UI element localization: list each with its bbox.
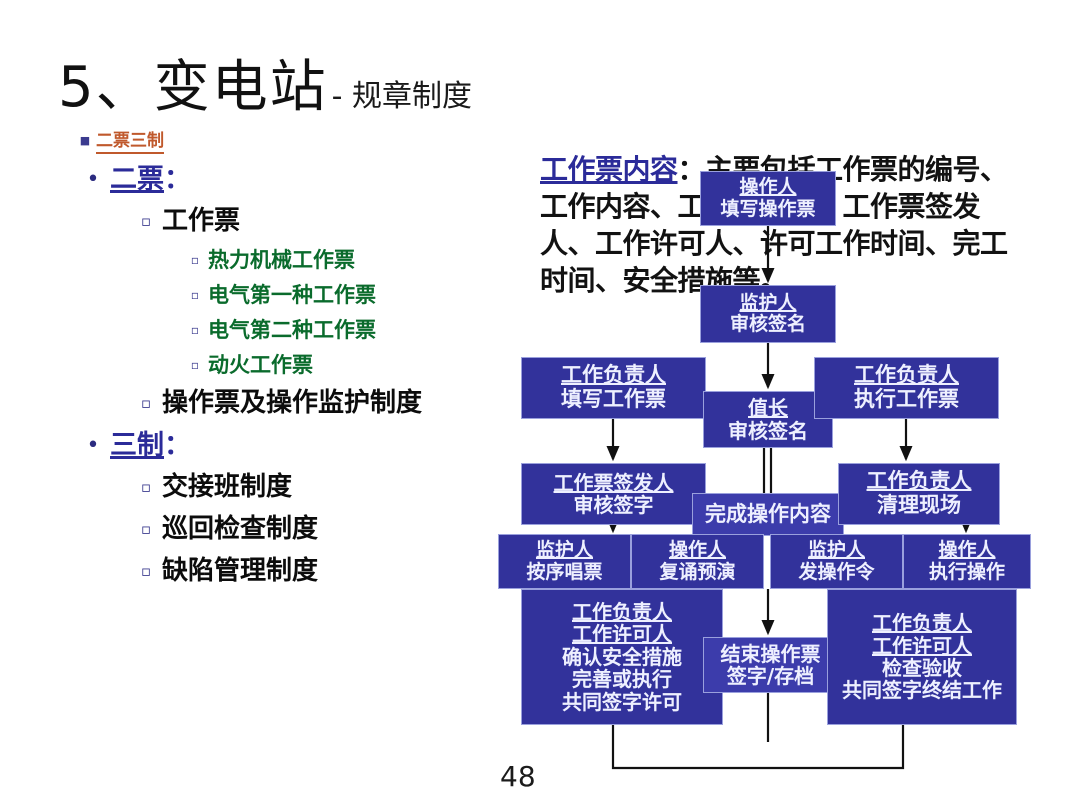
- flow-node-op-exec: 操作人执行操作: [903, 534, 1031, 589]
- bullet-marker-icon: ▫: [130, 468, 162, 506]
- outline-item-label: 交接班制度: [162, 468, 292, 506]
- flow-node-leader-fill: 工作负责人填写工作票: [521, 357, 706, 419]
- outline-item: ▫操作票及操作监护制度: [70, 384, 510, 422]
- page-title: 5、变电站- 规章制度: [58, 42, 472, 123]
- flow-node-line: 检查验收: [882, 657, 962, 679]
- flow-node-op-repeat: 操作人复诵预演: [631, 534, 764, 589]
- flow-node-line: 发操作令: [798, 562, 874, 583]
- bullet-marker-icon: ▫: [130, 510, 162, 548]
- outline-item: ▫交接班制度: [70, 468, 510, 506]
- work-ticket-content-heading: 工作票内容: [540, 153, 678, 186]
- outline-item-label: 二票：: [110, 160, 191, 200]
- work-ticket-content-paragraph: 工作票内容：主要包括工作票的编号、工作内容、工作负责人、工作票签发人、工作许可人…: [540, 152, 1030, 300]
- flow-node-line: 按序唱票: [526, 562, 602, 583]
- flow-node-line: 操作人: [669, 540, 726, 561]
- flow-node-line: 完善或执行: [572, 668, 672, 690]
- outline-item-suffix: ：: [164, 430, 191, 461]
- outline-item-text: 二票: [110, 164, 164, 195]
- bullet-marker-icon: ▫: [182, 314, 208, 346]
- outline-item-label: 动火工作票: [208, 349, 313, 381]
- flow-node-super-call: 监护人按序唱票: [498, 534, 631, 589]
- bullet-marker-icon: ▫: [130, 384, 162, 422]
- outline-item-label: 工作票: [162, 202, 240, 240]
- outline-item-label: 电气第一种工作票: [208, 279, 376, 311]
- bullet-marker-icon: •: [76, 426, 110, 466]
- flow-node-line: 审核签名: [730, 314, 806, 335]
- flow-node-line: 工作负责人: [872, 612, 972, 634]
- flow-node-line: 清理现场: [877, 494, 961, 518]
- outline-item-label: 热力机械工作票: [208, 244, 355, 276]
- flow-node-issuer-sign: 工作票签发人审核签字: [521, 463, 706, 525]
- flow-node-permit-confirm: 工作负责人工作许可人确认安全措施完善或执行共同签字许可: [521, 589, 723, 725]
- flow-node-line: 结束操作票: [721, 643, 821, 665]
- outline-item: ▫热力机械工作票: [70, 244, 510, 276]
- flow-node-leader-clean: 工作负责人清理现场: [838, 463, 1000, 525]
- bullet-marker-icon: ▫: [182, 244, 208, 276]
- outline-item-text: 三制: [110, 430, 164, 461]
- flow-node-line: 工作负责人: [867, 470, 972, 494]
- bullet-marker-icon: ■: [74, 130, 96, 152]
- flow-node-line: 工作票签发人: [554, 472, 674, 494]
- flow-node-line: 工作许可人: [872, 635, 972, 657]
- outline-item: ▫工作票: [70, 202, 510, 240]
- flow-node-check-accept: 工作负责人工作许可人检查验收共同签字终结工作: [827, 589, 1017, 725]
- outline-item-label: 操作票及操作监护制度: [162, 384, 422, 422]
- outline-item: ▫电气第二种工作票: [70, 314, 510, 346]
- flow-node-line: 监护人: [536, 540, 593, 561]
- flow-node-line: 工作负责人: [854, 364, 959, 388]
- bullet-marker-icon: •: [76, 160, 110, 200]
- flow-node-line: 操作人: [938, 540, 995, 561]
- flow-node-line: 共同签字终结工作: [842, 679, 1002, 701]
- flow-node-line: 工作负责人: [561, 364, 666, 388]
- flow-node-line: 填写工作票: [561, 388, 666, 412]
- outline-item-suffix: ：: [164, 164, 191, 195]
- flow-node-line: 完成操作内容: [705, 503, 831, 527]
- outline-item-label: 缺陷管理制度: [162, 552, 318, 590]
- flow-node-line: 执行工作票: [854, 388, 959, 412]
- flow-node-line: 复诵预演: [659, 562, 735, 583]
- page-title-subtitle: - 规章制度: [332, 79, 472, 114]
- outline-item: •二票：: [70, 160, 510, 200]
- flow-node-line: 监护人: [808, 540, 865, 561]
- bullet-marker-icon: ▫: [130, 552, 162, 590]
- flow-node-line: 工作许可人: [572, 623, 672, 645]
- outline-item: ▫缺陷管理制度: [70, 552, 510, 590]
- flow-node-end-ticket: 结束操作票签字/存档: [703, 637, 838, 693]
- outline-item: •三制：: [70, 426, 510, 466]
- outline-item: ▫巡回检查制度: [70, 510, 510, 548]
- flow-node-line: 签字/存档: [727, 665, 814, 687]
- flow-node-line: 审核签名: [728, 420, 808, 442]
- outline-item-label: 巡回检查制度: [162, 510, 318, 548]
- outline-item: ■二票三制: [70, 130, 510, 154]
- bullet-marker-icon: ▫: [182, 349, 208, 381]
- flow-node-line: 值长: [748, 397, 788, 419]
- outline-list: ■二票三制•二票：▫工作票▫热力机械工作票▫电气第一种工作票▫电气第二种工作票▫…: [70, 130, 510, 594]
- flow-node-leader-exec: 工作负责人执行工作票: [814, 357, 999, 419]
- flow-node-line: 确认安全措施: [562, 646, 682, 668]
- outline-item: ▫动火工作票: [70, 349, 510, 381]
- flow-node-finish-content: 完成操作内容: [692, 493, 844, 536]
- outline-item: ▫电气第一种工作票: [70, 279, 510, 311]
- flow-node-line: 工作负责人: [572, 601, 672, 623]
- flow-node-line: 共同签字许可: [562, 691, 682, 713]
- outline-item-label: 电气第二种工作票: [208, 314, 376, 346]
- bullet-marker-icon: ▫: [130, 202, 162, 240]
- outline-item-label: 三制：: [110, 426, 191, 466]
- flow-node-line: 审核签字: [574, 494, 654, 516]
- flow-node-super-order: 监护人发操作令: [770, 534, 903, 589]
- outline-item-label: 二票三制: [96, 130, 164, 154]
- flow-node-line: 执行操作: [929, 562, 1005, 583]
- page-number: 48: [500, 760, 536, 793]
- bullet-marker-icon: ▫: [182, 279, 208, 311]
- flow-node-shift-sign: 值长审核签名: [703, 391, 833, 448]
- page-title-main: 5、变电站: [58, 55, 328, 120]
